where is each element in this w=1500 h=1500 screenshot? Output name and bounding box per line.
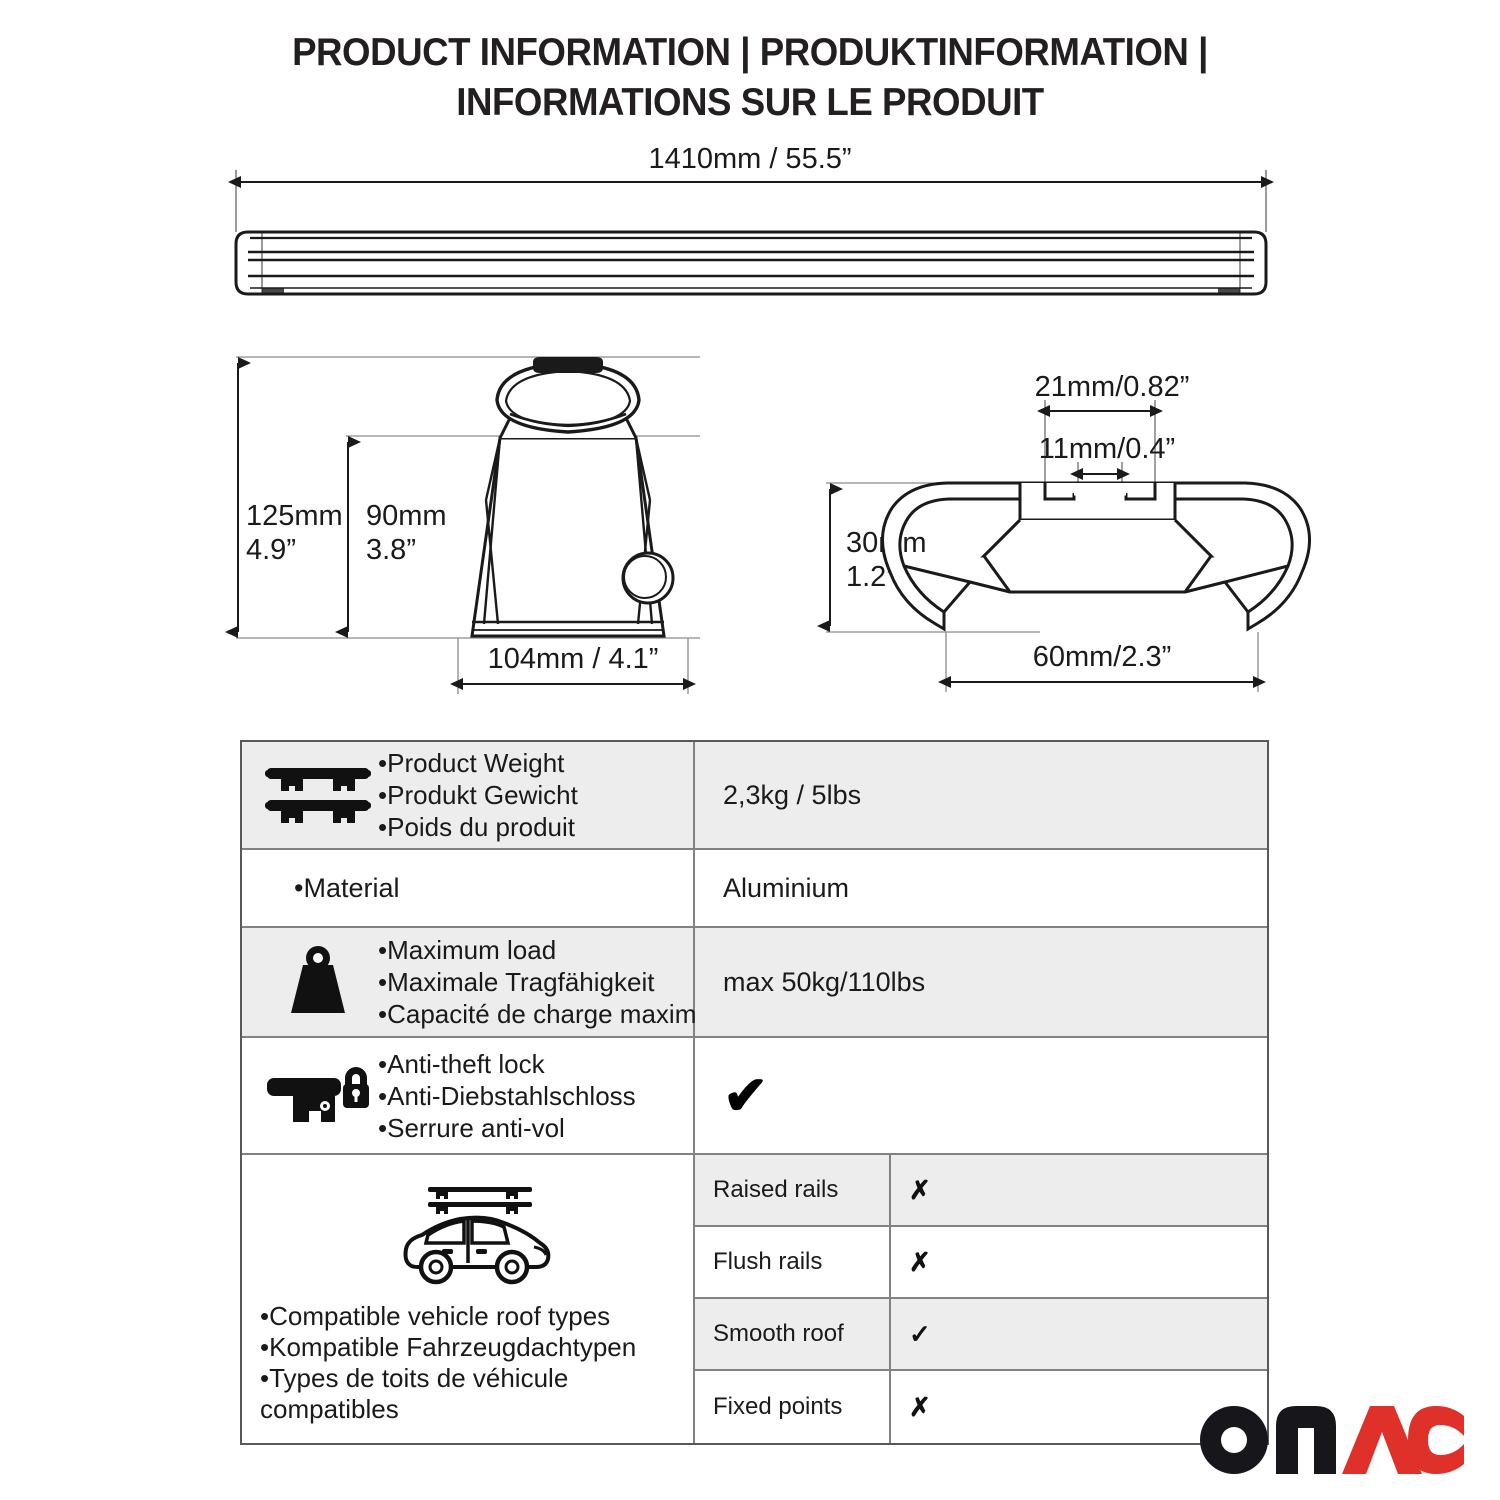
label-fr: •Poids du produit xyxy=(378,811,687,843)
row-value: Aluminium xyxy=(695,850,1267,926)
row-label-cell: •Material xyxy=(242,850,695,926)
weight-icon xyxy=(258,943,378,1021)
row-labels: •Maximum load •Maximale Tragfähigkeit •C… xyxy=(378,934,731,1030)
table-row: •Material Aluminium xyxy=(242,850,1267,928)
omac-logo-mark xyxy=(1196,1398,1464,1476)
label-fr: •Capacité de charge maximale xyxy=(378,998,731,1030)
roof-type-name: Fixed points xyxy=(695,1371,891,1443)
specifications-table: •Product Weight •Produkt Gewicht •Poids … xyxy=(240,740,1269,1445)
crossbars-icon xyxy=(258,762,378,828)
label-en: •Product Weight xyxy=(378,747,687,779)
label-de: •Maximale Tragfähigkeit xyxy=(378,966,731,998)
roof-type-value: ✓ xyxy=(891,1299,1267,1369)
product-information-sheet: PRODUCT INFORMATION | PRODUKTINFORMATION… xyxy=(0,0,1500,1500)
roof-type-name: Flush rails xyxy=(695,1227,891,1297)
roof-label-cell: •Compatible vehicle roof types •Kompatib… xyxy=(242,1155,695,1443)
row-labels: •Material xyxy=(258,872,687,904)
profile-width-label: 60mm/2.3” xyxy=(1033,641,1172,673)
roof-type-row: Raised rails ✗ xyxy=(695,1155,1267,1227)
roof-type-row: Flush rails ✗ xyxy=(695,1227,1267,1299)
tower-height-inner-label: 90mm xyxy=(366,500,447,532)
row-label-cell: •Anti-theft lock •Anti-Diebstahlschloss … xyxy=(242,1038,695,1153)
roof-labels: •Compatible vehicle roof types •Kompatib… xyxy=(260,1301,636,1425)
slot-outer-label: 21mm/0.82” xyxy=(1035,371,1190,403)
crossbar-elevation xyxy=(236,232,1266,294)
check-icon: ✔ xyxy=(723,1076,768,1116)
row-labels: •Anti-theft lock •Anti-Diebstahlschloss … xyxy=(378,1048,687,1144)
tower-front-view: 125mm 4.9” 90mm 3.8” xyxy=(236,357,700,694)
table-row: •Compatible vehicle roof types •Kompatib… xyxy=(242,1155,1267,1443)
bar-length-label: 1410mm / 55.5” xyxy=(648,143,851,175)
row-label-cell: •Maximum load •Maximale Tragfähigkeit •C… xyxy=(242,928,695,1036)
roof-type-name: Smooth roof xyxy=(695,1299,891,1369)
car-with-roof-rack-icon xyxy=(260,1173,683,1293)
roof-type-value: ✗ xyxy=(891,1227,1267,1297)
table-row: •Product Weight •Produkt Gewicht •Poids … xyxy=(242,742,1267,850)
tower-height-total-label: 125mm xyxy=(246,500,343,532)
label-fr: •Types de toits de véhicule compatibles xyxy=(260,1363,580,1425)
slot-inner-label: 11mm/0.4” xyxy=(1039,433,1175,465)
label-de: •Kompatible Fahrzeugdachtypen xyxy=(260,1332,636,1363)
tower-height-inner-inch-label: 3.8” xyxy=(366,534,416,566)
label-en: •Material xyxy=(294,872,687,904)
label-en: •Maximum load xyxy=(378,934,731,966)
omac-logo xyxy=(1196,1398,1464,1476)
table-row: •Anti-theft lock •Anti-Diebstahlschloss … xyxy=(242,1038,1267,1155)
roof-types-subtable: Raised rails ✗ Flush rails ✗ Smooth roof… xyxy=(695,1155,1267,1443)
label-fr: •Serrure anti-vol xyxy=(378,1112,687,1144)
row-value: max 50kg/110lbs xyxy=(695,928,1267,1036)
technical-drawings: 1410mm / 55.5” xyxy=(0,0,1500,740)
label-en: •Anti-theft lock xyxy=(378,1048,687,1080)
table-row: •Maximum load •Maximale Tragfähigkeit •C… xyxy=(242,928,1267,1038)
row-value: ✔ xyxy=(695,1038,1267,1153)
row-labels: •Product Weight •Produkt Gewicht •Poids … xyxy=(378,747,687,843)
label-en: •Compatible vehicle roof types xyxy=(260,1301,636,1332)
row-label-cell: •Product Weight •Produkt Gewicht •Poids … xyxy=(242,742,695,848)
label-de: •Anti-Diebstahlschloss xyxy=(378,1080,687,1112)
roof-type-row: Smooth roof ✓ xyxy=(695,1299,1267,1371)
roof-type-row: Fixed points ✗ xyxy=(695,1371,1267,1443)
row-value: 2,3kg / 5lbs xyxy=(695,742,1267,848)
bar-profile-cross-section: 21mm/0.82” 11mm/0.4” 30mm 1.2” xyxy=(826,371,1310,692)
tower-height-total-inch-label: 4.9” xyxy=(246,534,296,566)
bar-length-dimension: 1410mm / 55.5” xyxy=(236,143,1266,232)
lock-icon xyxy=(258,1056,378,1136)
tower-width-label: 104mm / 4.1” xyxy=(488,643,659,675)
roof-type-value: ✗ xyxy=(891,1155,1267,1225)
label-de: •Produkt Gewicht xyxy=(378,779,687,811)
roof-type-name: Raised rails xyxy=(695,1155,891,1225)
